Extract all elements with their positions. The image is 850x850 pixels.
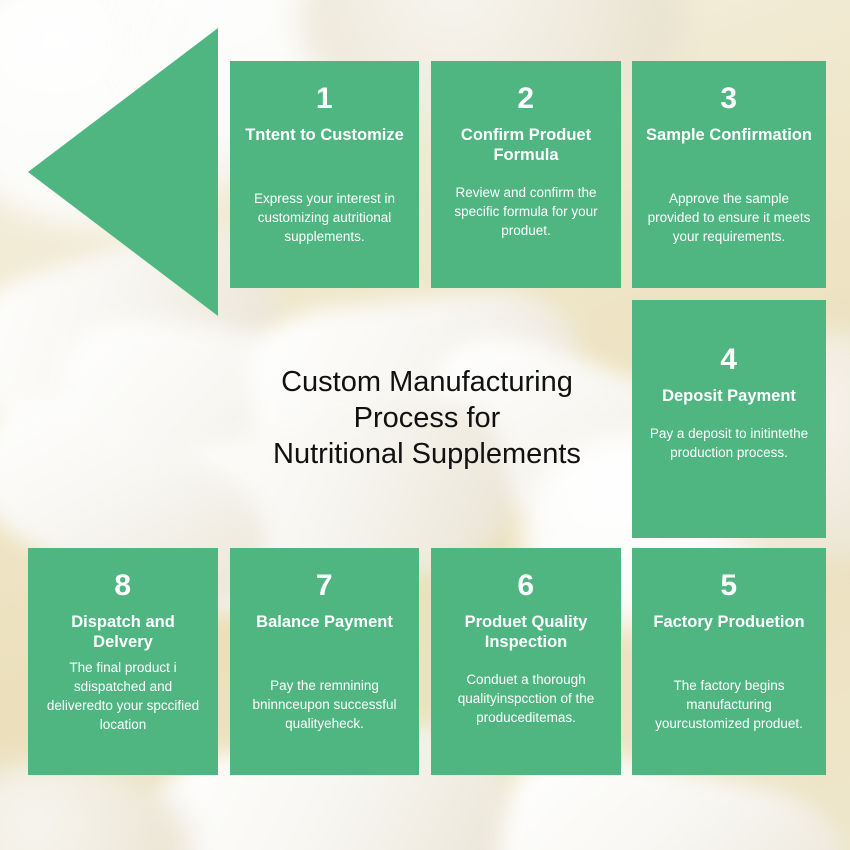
step-title: Balance Payment [242,612,407,632]
step-number: 4 [644,344,814,376]
step-number: 3 [644,83,814,115]
step-number: 1 [242,83,407,115]
title-line-2: Process for [273,400,581,436]
step-card-8[interactable]: 8 Dispatch and Delvery The final product… [28,548,218,775]
step-card-6[interactable]: 6 Produet Quality Inspection Conduet a t… [431,548,621,775]
step-description: Approve the sample provided to ensure it… [644,189,814,250]
step-card-3[interactable]: 3 Sample Confirmation Approve the sample… [632,61,826,288]
step-title: Tntent to Customize [242,125,407,145]
step-description: Pay a deposit to initintethe production … [644,424,814,466]
step-title: Factory Produetion [644,612,814,632]
step-description: Pay the remnining bninnceupon successful… [242,676,407,737]
step-title: Dispatch and Delvery [40,612,206,652]
step-description: Express your interest in customizing aut… [242,189,407,250]
arrow-triangle-icon [28,28,218,316]
infographic-canvas: 1 Tntent to Customize Express your inter… [0,0,850,850]
step-number: 2 [443,83,609,115]
step-number: 5 [644,570,814,602]
title-line-1: Custom Manufacturing [273,364,581,400]
step-card-5[interactable]: 5 Factory Produetion The factory begins … [632,548,826,775]
step-number: 7 [242,570,407,602]
step-card-7[interactable]: 7 Balance Payment Pay the remnining bnin… [230,548,419,775]
step-description: The final product i sdispatched and deli… [40,658,206,739]
step-card-1[interactable]: 1 Tntent to Customize Express your inter… [230,61,419,288]
step-description: Review and confirm the specific formula … [443,183,609,244]
step-card-2[interactable]: 2 Confirm Produet Formula Review and con… [431,61,621,288]
step-card-4[interactable]: 4 Deposit Payment Pay a deposit to initi… [632,300,826,538]
step-title: Produet Quality Inspection [443,612,609,652]
step-number: 8 [40,570,206,602]
left-arrow-shape [28,28,218,316]
title-line-3: Nutritional Supplements [273,436,581,472]
step-title: Sample Confirmation [644,125,814,145]
step-title: Confirm Produet Formula [443,125,609,165]
step-description: The factory begins manufacturing yourcus… [644,676,814,737]
infographic-title: Custom Manufacturing Process for Nutriti… [232,352,622,484]
step-title: Deposit Payment [644,386,814,406]
step-description: Conduet a thorough qualityinspcction of … [443,670,609,731]
step-number: 6 [443,570,609,602]
